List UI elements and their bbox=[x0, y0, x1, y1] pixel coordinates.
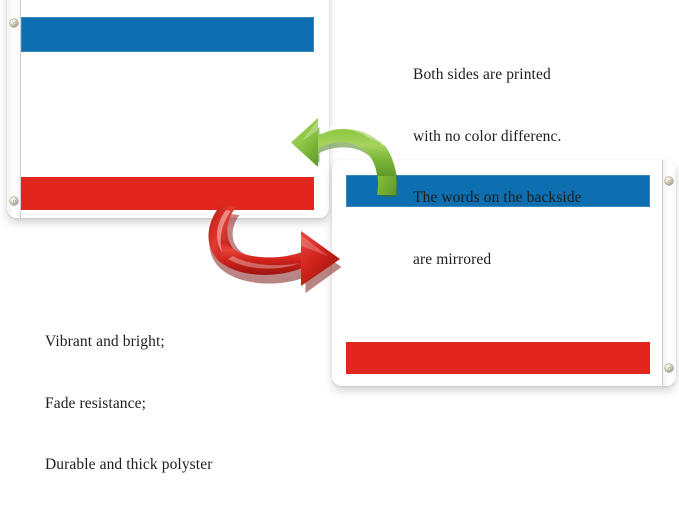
caption-line: Fade resistance; bbox=[45, 394, 212, 415]
product-feature-graphic: Both sides are printed with no color dif… bbox=[0, 0, 679, 410]
caption-material-features: Vibrant and bright; Fade resistance; Dur… bbox=[45, 291, 212, 517]
caption-line: Durable and thick polyster bbox=[45, 455, 212, 476]
caption-line: The words on the backside bbox=[413, 188, 582, 209]
grommet-icon bbox=[10, 197, 18, 205]
grommet-icon bbox=[665, 364, 673, 372]
caption-line: are mirrored bbox=[413, 250, 582, 271]
red-stripe bbox=[346, 342, 650, 374]
flag-hoist-seam bbox=[662, 160, 663, 386]
red-stripe bbox=[21, 177, 314, 210]
flag-hoist-strip bbox=[662, 160, 676, 386]
flag-white-field bbox=[7, 0, 329, 218]
flag-hoist-strip bbox=[7, 0, 21, 218]
caption-both-sides-printed: Both sides are printed with no color dif… bbox=[413, 24, 582, 311]
caption-line: Both sides are printed bbox=[413, 65, 582, 86]
front-side-flag-card bbox=[7, 0, 329, 218]
caption-line: Vibrant and bright; bbox=[45, 332, 212, 353]
grommet-icon bbox=[665, 177, 673, 185]
caption-line: with no color differenc. bbox=[413, 127, 582, 148]
blue-stripe bbox=[21, 17, 314, 52]
grommet-icon bbox=[10, 19, 18, 27]
